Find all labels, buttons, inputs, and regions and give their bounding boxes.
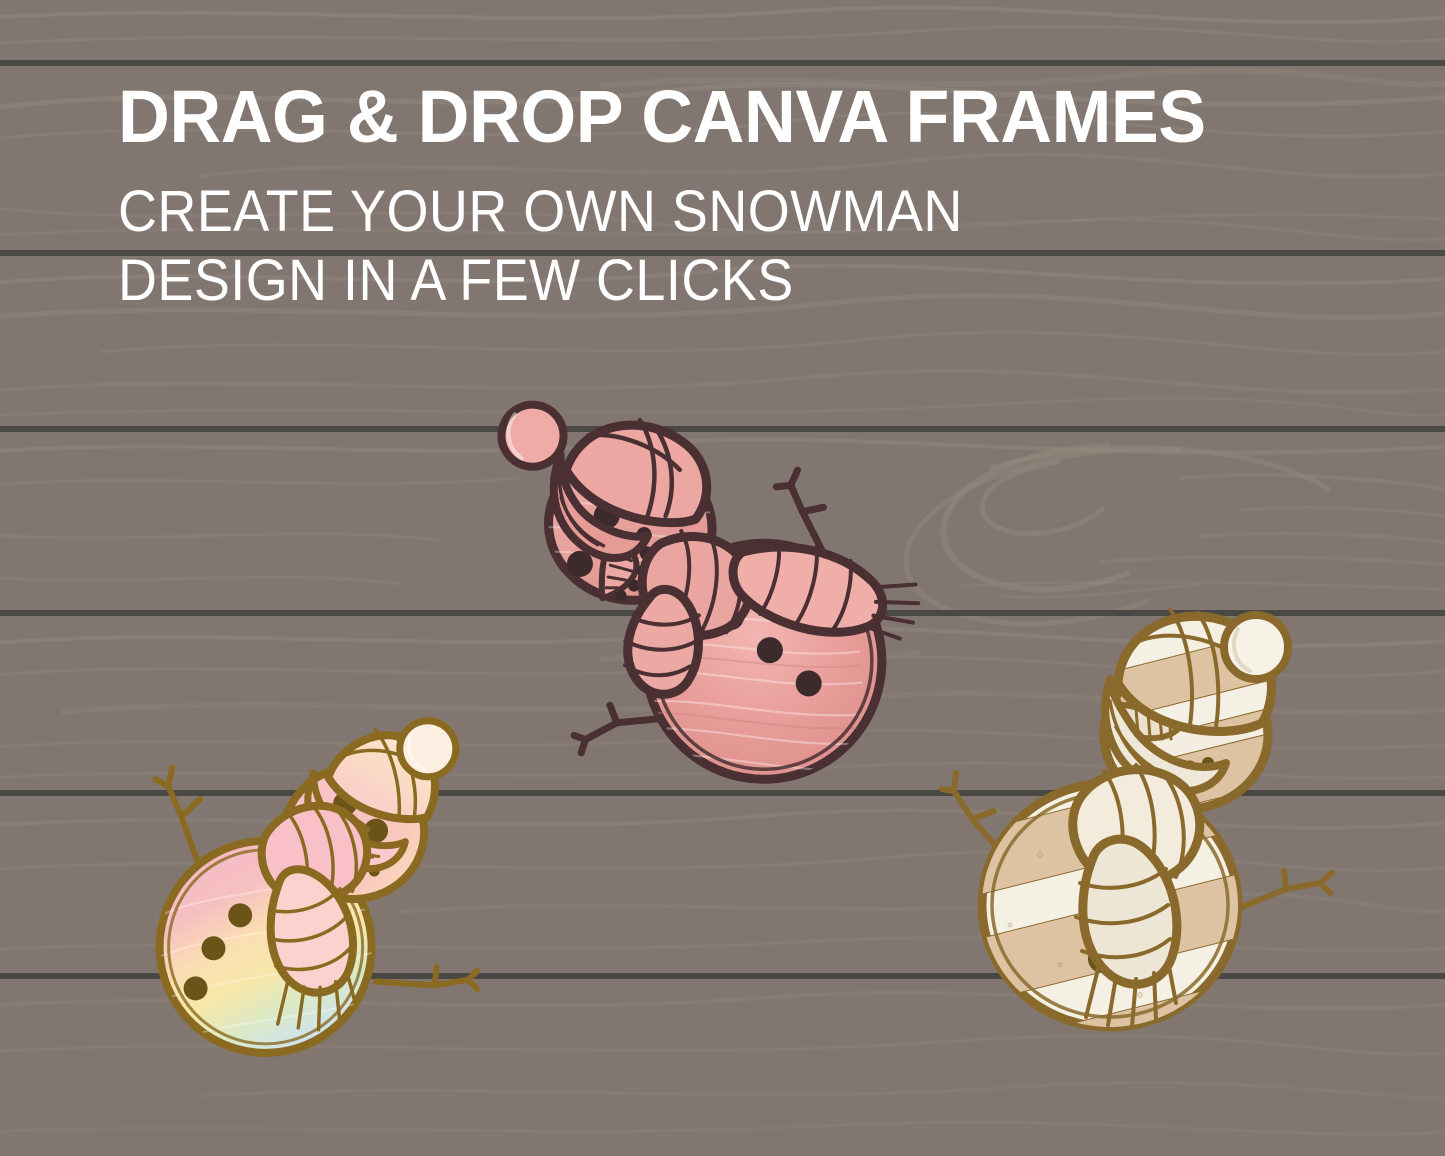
snowman-right-tan[interactable] [950,605,1350,1045]
snowman-center-pink[interactable] [432,398,952,818]
snowman-left-rainbow[interactable] [130,730,490,1090]
poster-canvas: DRAG & DROP CANVA FRAMES CREATE YOUR OWN… [0,0,1445,1156]
